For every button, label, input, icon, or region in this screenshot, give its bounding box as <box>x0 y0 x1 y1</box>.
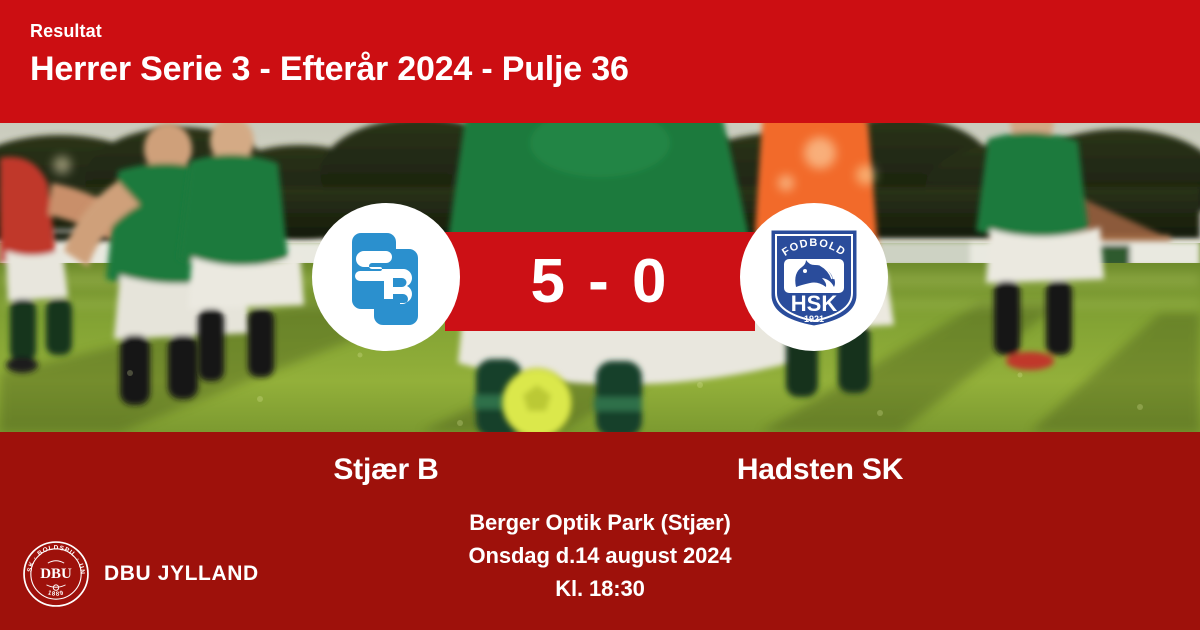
score-value: 5 - 0 <box>530 251 669 313</box>
home-team-logo <box>312 203 460 351</box>
header-kicker: Resultat <box>30 20 1200 42</box>
match-venue: Berger Optik Park (Stjær) <box>0 506 1200 539</box>
home-team-name: Stjær B <box>226 450 546 490</box>
away-team-logo: FODBOLD HSK 1921 <box>740 203 888 351</box>
result-poster: Resultat Herrer Serie 3 - Efterår 2024 -… <box>0 0 1200 630</box>
page-title: Herrer Serie 3 - Efterår 2024 - Pulje 36 <box>30 46 1200 92</box>
score-bar: 5 - 0 <box>445 232 755 331</box>
team-names-row: Stjær B Hadsten SK <box>0 450 1200 490</box>
header-banner: Resultat Herrer Serie 3 - Efterår 2024 -… <box>0 0 1200 123</box>
dbu-seal-monogram: DBU <box>40 566 72 582</box>
stjaer-b-crest-icon <box>334 225 438 329</box>
hadsten-sk-crest-icon: FODBOLD HSK 1921 <box>762 221 866 333</box>
away-logo-year: 1921 <box>804 314 824 324</box>
dbu-seal-icon: DANSK · BOLDSPIL · UNION 1889 DBU <box>22 540 90 608</box>
away-logo-initials: HSK <box>791 291 838 316</box>
dbu-footer: DANSK · BOLDSPIL · UNION 1889 DBU DBU JY… <box>22 540 259 608</box>
away-team-name: Hadsten SK <box>660 450 980 490</box>
dbu-org-label: DBU JYLLAND <box>104 562 259 586</box>
